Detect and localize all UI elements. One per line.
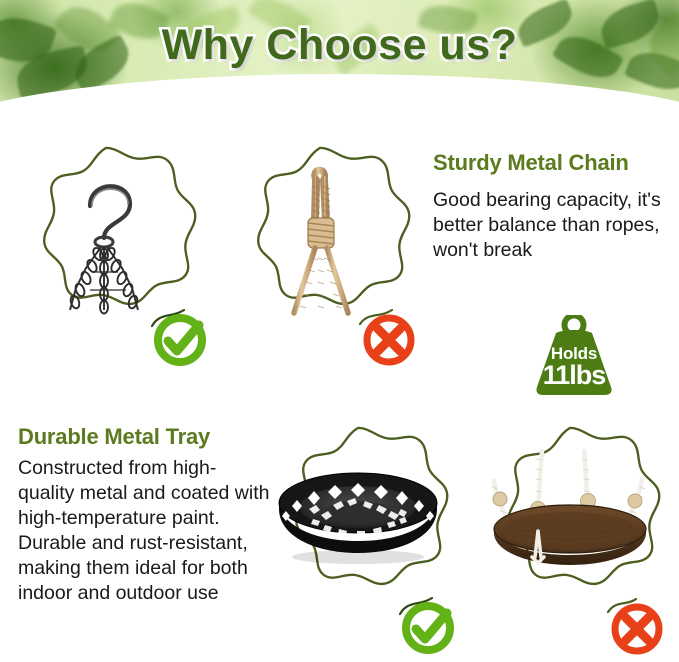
section-heading-sturdy-metal-chain: Sturdy Metal Chain xyxy=(433,150,629,176)
metal-tray-image xyxy=(273,465,443,575)
page-title: Why Choose us? xyxy=(0,21,679,70)
metal-chain-hanger-image xyxy=(46,160,166,320)
verdict-cross-rope-hanger xyxy=(358,308,420,368)
section-body-sturdy-metal-chain: Good bearing capacity, it's better balan… xyxy=(433,188,665,263)
rope-hanger-image xyxy=(260,158,380,323)
frame-content-wooden-tray xyxy=(472,422,668,618)
product-frame-wooden-tray xyxy=(472,422,668,618)
verdict-check-metal-chain xyxy=(150,308,212,368)
weight-capacity-badge: Holds 11lbs xyxy=(519,315,629,397)
frame-content-metal-tray xyxy=(260,422,456,618)
header-banner: Why Choose us? xyxy=(0,0,679,122)
cross-circle-icon xyxy=(358,308,420,368)
section-heading-durable-metal-tray: Durable Metal Tray xyxy=(18,424,210,450)
section-body-durable-metal-tray: Constructed from high-quality metal and … xyxy=(18,456,270,606)
check-circle-icon xyxy=(398,594,460,656)
infographic-page: Why Choose us? xyxy=(0,0,679,662)
wooden-tray-image xyxy=(480,445,660,595)
verdict-cross-wooden-tray xyxy=(606,596,668,658)
verdict-check-metal-tray xyxy=(398,594,460,656)
check-circle-icon xyxy=(150,308,212,368)
cross-circle-icon xyxy=(606,596,668,658)
weight-badge-value: 11lbs xyxy=(519,362,629,389)
product-frame-metal-tray xyxy=(260,422,456,618)
